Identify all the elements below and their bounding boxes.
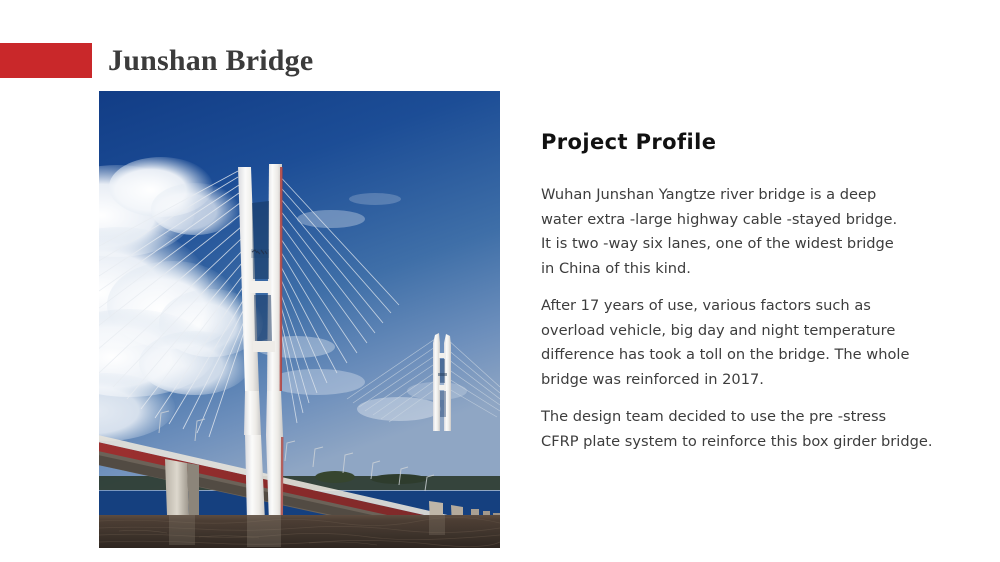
page-title: Junshan Bridge — [108, 44, 313, 78]
bridge-photo — [99, 91, 500, 548]
bridge-photo-illustration — [99, 91, 500, 548]
profile-paragraph-3: The design team decided to use the pre -… — [541, 405, 989, 454]
project-profile-heading: Project Profile — [541, 130, 716, 154]
profile-paragraph-1: Wuhan Junshan Yangtze river bridge is a … — [541, 183, 989, 281]
profile-paragraph-2: After 17 years of use, various factors s… — [541, 294, 989, 392]
pylon-inscription — [251, 249, 269, 258]
title-accent-bar — [0, 43, 92, 78]
